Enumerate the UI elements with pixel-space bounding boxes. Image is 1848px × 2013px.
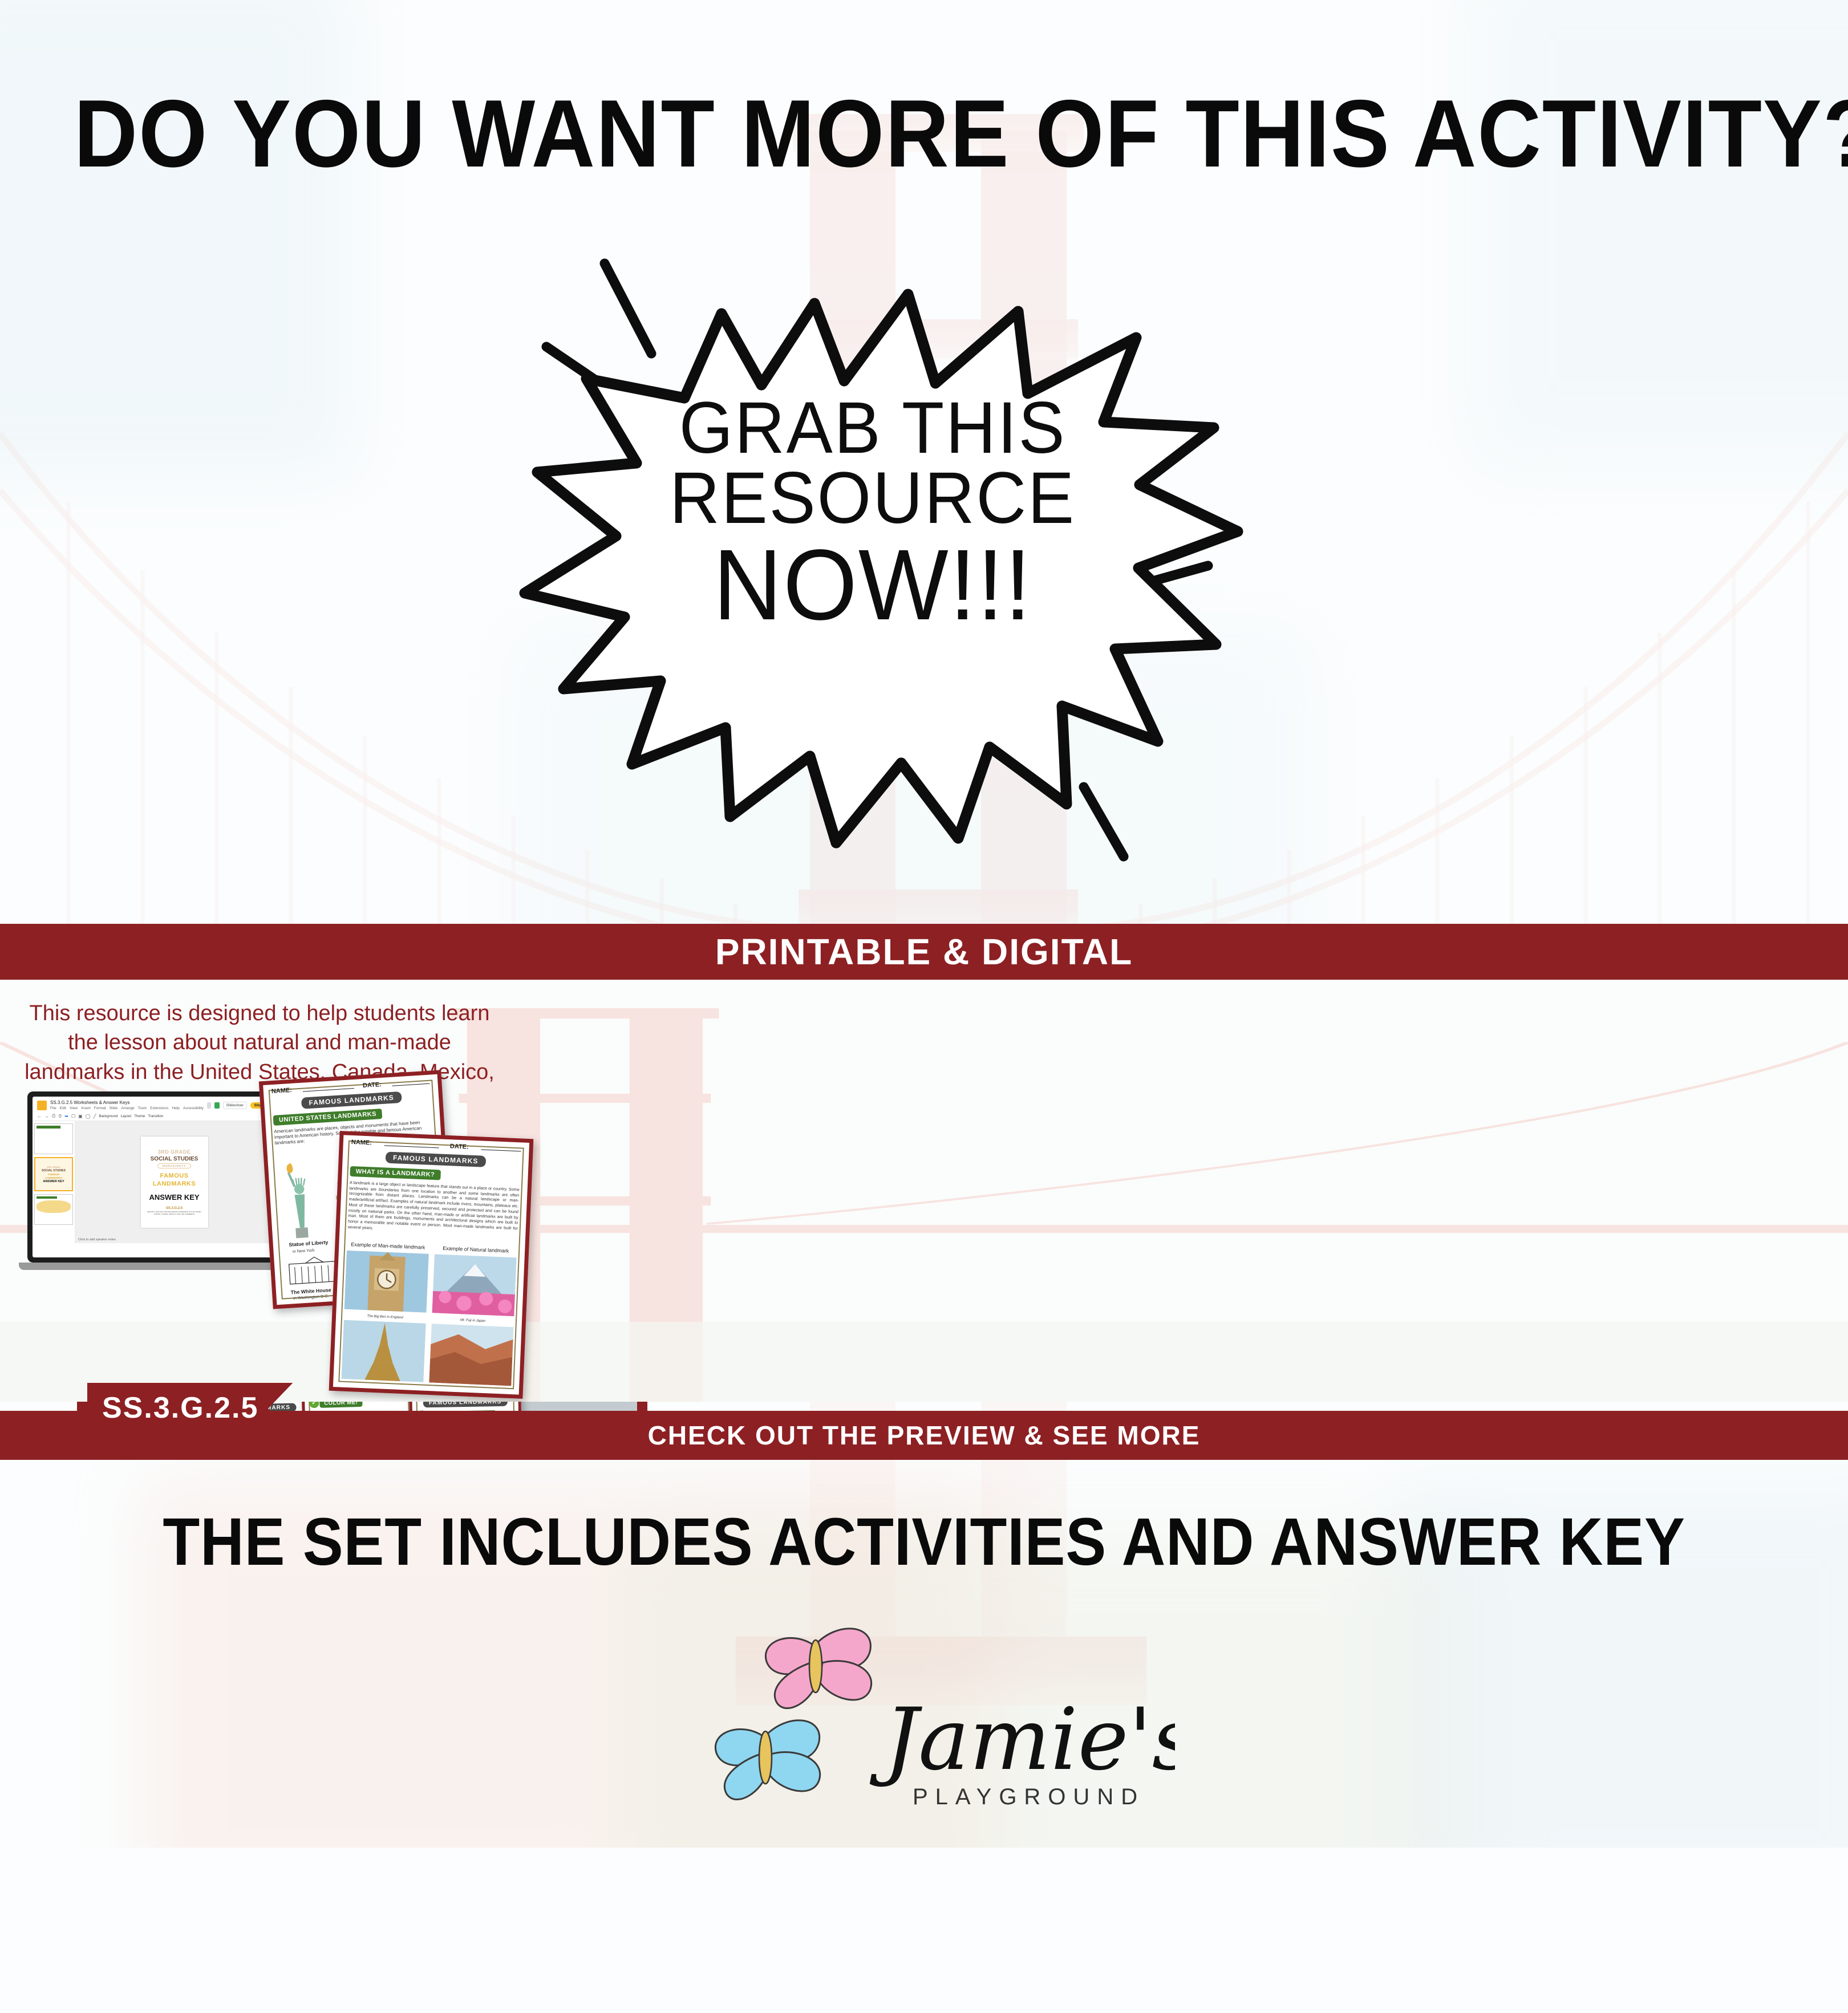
- menu-slide[interactable]: Slide: [110, 1106, 118, 1110]
- worksheet-body-text: A landmark is a large object or landscap…: [347, 1180, 519, 1237]
- filmstrip-slide-selected[interactable]: 3RD GRADE SOCIAL STUDIES FAMOUS LANDMARK…: [34, 1157, 73, 1191]
- speaker-notes[interactable]: Click to add speaker notes: [78, 1238, 116, 1241]
- name-label: NAME:: [271, 1087, 293, 1095]
- mount-fuji-photo: [432, 1254, 516, 1316]
- digital-body: This resource is designed to help studen…: [0, 980, 1848, 1402]
- print-icon[interactable]: ⎙: [52, 1113, 55, 1119]
- slides-menu-bar: File Edit View Insert Format Slide Arran…: [50, 1106, 204, 1110]
- menu-file[interactable]: File: [50, 1106, 56, 1110]
- slide-eyebrow: 3RD GRADE: [158, 1149, 191, 1155]
- line-icon[interactable]: ╱: [94, 1114, 96, 1119]
- slide-line2: SOCIAL STUDIES: [151, 1156, 198, 1162]
- slide-caption: IDENTIFY NATURAL AND MAN-MADE LANDMARKS …: [141, 1211, 208, 1216]
- slide-title2: LANDMARKS: [153, 1180, 196, 1187]
- example-column-natural: Example of Natural landmark Mt. Fuji i: [429, 1245, 517, 1389]
- landmark-place-1: in New York: [293, 1248, 315, 1254]
- logo-wordmark: Jamie's: [869, 1690, 1175, 1789]
- laptop-screen-bezel: SS.3.G.2.5 Worksheets & Answer Keys File…: [27, 1091, 278, 1263]
- laptop-base: [19, 1263, 287, 1270]
- zoom-icon[interactable]: ⚲: [58, 1114, 62, 1119]
- worksheet-what-is-landmark[interactable]: NAME: DATE: FAMOUS LANDMARKS WHAT IS A L…: [329, 1131, 534, 1399]
- select-cursor-icon[interactable]: ➥: [64, 1114, 68, 1119]
- menu-insert[interactable]: Insert: [81, 1106, 91, 1110]
- slides-app-icon: [37, 1101, 47, 1110]
- menu-tools[interactable]: Tools: [138, 1106, 147, 1110]
- digital-header: PRINTABLE & DIGITAL: [0, 924, 1848, 980]
- caption-natural: Mt. Fuji in Japan: [432, 1318, 514, 1325]
- slide-standard: SS.3.G.2.5: [166, 1207, 183, 1210]
- toolbar-theme[interactable]: Theme: [134, 1114, 145, 1118]
- menu-view[interactable]: View: [70, 1106, 78, 1110]
- logo-tagline: PLAYGROUND: [913, 1784, 1145, 1809]
- comment-icon[interactable]: [207, 1102, 211, 1109]
- shape-icon[interactable]: ◯: [86, 1114, 91, 1119]
- landmark-name-1: Statue of Liberty: [289, 1239, 329, 1247]
- canyon-photo: [429, 1324, 513, 1386]
- bubble-line-1: GRAB THIS: [651, 393, 1095, 464]
- product-preview-cards: Activities & Answer Key Included Jamie's…: [0, 912, 1848, 1460]
- slides-title-bar: SS.3.G.2.5 Worksheets & Answer Keys File…: [33, 1097, 273, 1111]
- slideshow-button[interactable]: Slideshow: [223, 1102, 247, 1109]
- menu-help[interactable]: Help: [172, 1106, 180, 1110]
- laptop-mockup: SS.3.G.2.5 Worksheets & Answer Keys File…: [27, 1091, 278, 1270]
- slide-title1: FAMOUS: [160, 1172, 188, 1179]
- menu-extensions[interactable]: Extensions: [150, 1106, 168, 1110]
- date-label: DATE:: [450, 1143, 469, 1150]
- butterfly-body: [759, 1731, 772, 1784]
- textbox-icon[interactable]: ☐: [71, 1114, 75, 1119]
- date-label: DATE:: [363, 1081, 382, 1089]
- undo-icon[interactable]: ←: [37, 1114, 42, 1119]
- speech-bubble-text: GRAB THIS RESOURCE NOW!!!: [639, 393, 1107, 634]
- slide-answer-key: ANSWER KEY: [149, 1193, 199, 1202]
- big-ben-photo: [345, 1251, 429, 1313]
- bubble-line-3: NOW!!!: [651, 537, 1095, 634]
- page-title: DO YOU WANT MORE OF THIS ACTIVITY?: [74, 86, 1774, 181]
- filmstrip-slide[interactable]: [34, 1123, 73, 1154]
- google-slides-window[interactable]: SS.3.G.2.5 Worksheets & Answer Keys File…: [33, 1097, 273, 1257]
- jamies-playground-logo: Jamie's PLAYGROUND: [673, 1608, 1175, 1825]
- menu-edit[interactable]: Edit: [60, 1106, 66, 1110]
- name-label: NAME:: [351, 1139, 372, 1146]
- menu-format[interactable]: Format: [94, 1106, 106, 1110]
- toolbar-background[interactable]: Background: [99, 1114, 117, 1118]
- redo-icon[interactable]: →: [44, 1114, 49, 1119]
- butterfly-body: [809, 1640, 822, 1693]
- slide-pill: WORKSHEETS: [157, 1163, 191, 1168]
- slide-canvas[interactable]: 3RD GRADE SOCIAL STUDIES WORKSHEETS FAMO…: [75, 1121, 273, 1243]
- bubble-line-2: RESOURCE: [651, 464, 1095, 534]
- filmstrip-slide[interactable]: [34, 1194, 73, 1225]
- slide-filmstrip[interactable]: 3RD GRADE SOCIAL STUDIES FAMOUS LANDMARK…: [33, 1121, 75, 1243]
- example-column-manmade: Example of Man-made landmark The Big Ben…: [341, 1241, 429, 1385]
- meet-icon[interactable]: [214, 1102, 219, 1109]
- menu-arrange[interactable]: Arrange: [121, 1106, 134, 1110]
- menu-accessibility[interactable]: Accessibility: [183, 1106, 204, 1110]
- page-subtitle: THE SET INCLUDES ACTIVITIES AND ANSWER K…: [92, 1508, 1756, 1576]
- slides-editor: 3RD GRADE SOCIAL STUDIES FAMOUS LANDMARK…: [33, 1121, 273, 1243]
- eiffel-tower-photo: [341, 1320, 425, 1382]
- document-title[interactable]: SS.3.G.2.5 Worksheets & Answer Keys: [50, 1100, 204, 1105]
- slides-toolbar: ← → ⎙ ⚲ ➥ ☐ ▣ ◯ ╱ Background Layout Them…: [33, 1111, 273, 1121]
- starburst-speech-bubble: GRAB THIS RESOURCE NOW!!!: [502, 240, 1243, 878]
- image-icon[interactable]: ▣: [78, 1114, 83, 1119]
- caption-manmade: The Big Ben in England: [344, 1314, 426, 1321]
- current-slide[interactable]: 3RD GRADE SOCIAL STUDIES WORKSHEETS FAMO…: [141, 1137, 208, 1228]
- toolbar-layout[interactable]: Layout: [121, 1114, 132, 1118]
- toolbar-transition[interactable]: Transition: [148, 1114, 163, 1118]
- standard-badge: SS.3.G.2.5: [87, 1383, 293, 1434]
- landmark-examples-columns: Example of Man-made landmark The Big Ben…: [341, 1241, 517, 1389]
